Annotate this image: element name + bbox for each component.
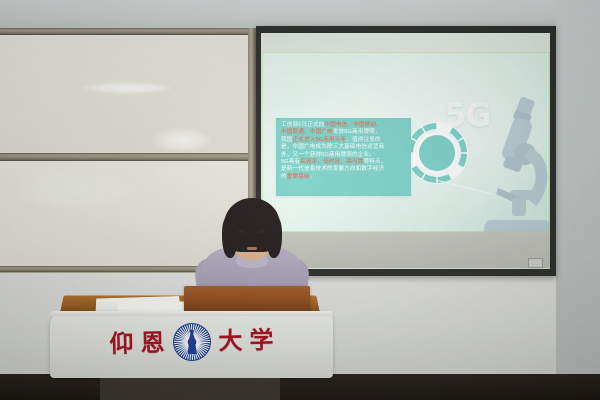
slide-text-run: 外，又一个获得5G商用牌照的企业。: [281, 152, 375, 158]
slide-text-line: 我国正式进入5G商用元年。值得注意的: [281, 137, 406, 144]
slide-text-run: 是，中国广电成为除三大基础电信运营商: [281, 144, 384, 150]
podium-top-lip: [50, 311, 333, 316]
slide-text-run: 工信部6日正式向: [281, 122, 324, 128]
microscope-icon: [474, 94, 550, 232]
screen-pull-tab: [528, 258, 543, 268]
presenter-eye-right: [258, 230, 265, 233]
slide-text-highlight: 中国电信、中国移动、: [324, 122, 381, 128]
slide-text-run: 。值得注意的: [346, 137, 380, 143]
podium-base: [100, 378, 280, 400]
wall-right: [556, 0, 600, 400]
slide-text-line: 工信部6日正式向中国电信、中国移动、: [281, 122, 406, 129]
slide-text-line: 外，又一个获得5G商用牌照的企业。: [281, 152, 406, 159]
podium-char: 恩: [140, 331, 165, 356]
donut-ring-graphic: [404, 120, 470, 186]
podium-char: 仰: [109, 331, 134, 356]
slide-text-run: 。: [310, 174, 316, 180]
donut-core: [419, 135, 455, 171]
podium-char: 学: [249, 328, 274, 353]
slide-text-run: 5G具有: [281, 159, 300, 165]
classroom-scene: 5G: [0, 0, 600, 400]
presenter-mouth: [247, 247, 257, 250]
whiteboard-rail-top: [0, 28, 254, 35]
whiteboard-panel-upper: [0, 35, 249, 153]
podium-monitor-panel: [184, 286, 310, 312]
podium-papers: [118, 300, 189, 311]
slide-text-run: 是新一代信息技术的发展方向和数字经济: [281, 166, 384, 172]
slide-text-line: 的重要基础。: [281, 174, 406, 181]
podium-char: 大: [218, 329, 243, 354]
slide-text-highlight: 高速率、低时延、高可靠: [300, 159, 363, 165]
slide-text-highlight: 中国联通、中国广电: [281, 129, 333, 135]
slide-text-highlight: 重要基础: [287, 174, 310, 180]
slide-text-line: 中国联通、中国广电发放5G商用牌照，: [281, 129, 406, 136]
slide-text-line: 是新一代信息技术的发展方向和数字经济: [281, 166, 406, 173]
slide-text-line: 是，中国广电成为除三大基础电信运营商: [281, 144, 406, 151]
presenter-bangs: [228, 206, 276, 226]
slide-text-run: 我国: [281, 137, 293, 143]
slide-text-highlight: 正式进入5G商用元年: [293, 137, 347, 143]
whiteboard-rail-middle: [0, 153, 254, 161]
yangen-university-sunburst-logo: [171, 322, 212, 363]
slide-text-run: 等特点，: [363, 159, 386, 165]
presenter-eye-left: [238, 230, 245, 233]
slide-text-box: 工信部6日正式向中国电信、中国移动、中国联通、中国广电发放5G商用牌照，我国正式…: [276, 118, 411, 196]
podium-banner: 仰 恩 大 学: [50, 319, 334, 366]
slide-text-run: 发放5G商用牌照，: [333, 129, 381, 135]
slide-text-line: 5G具有高速率、低时延、高可靠等特点，: [281, 159, 406, 166]
